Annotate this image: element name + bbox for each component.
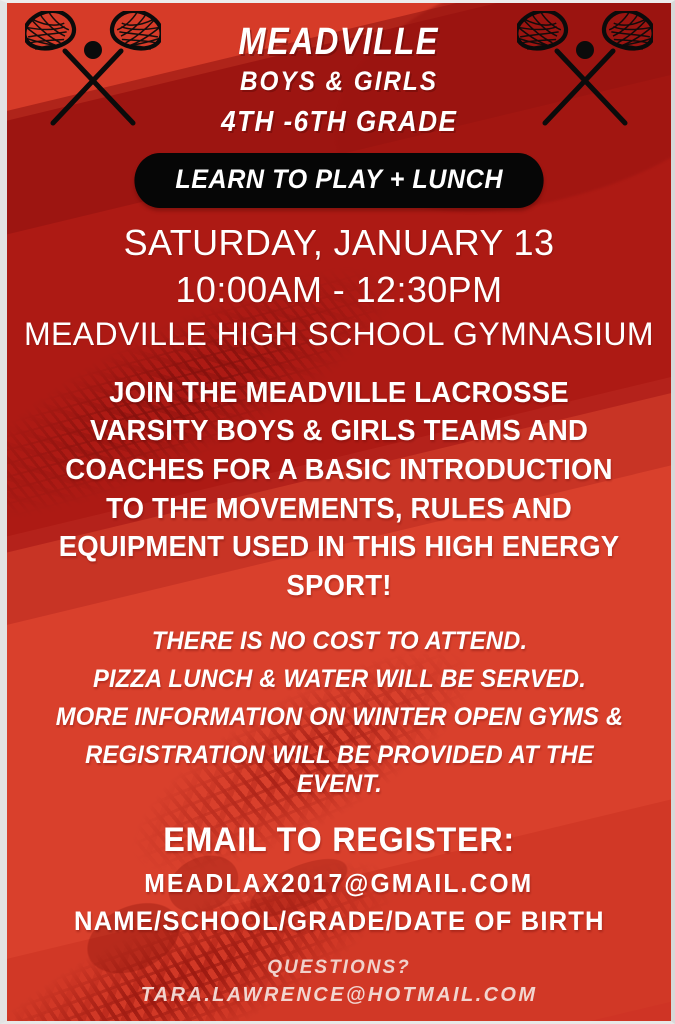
note-line: REGISTRATION WILL BE PROVIDED AT THE EVE…	[42, 741, 636, 799]
event-notes: THERE IS NO COST TO ATTEND. PIZZA LUNCH …	[27, 627, 652, 799]
subtitle-audience: BOYS & GIRLS	[240, 66, 438, 97]
questions-email[interactable]: TARA.LAWRENCE@HOTMAIL.COM	[141, 984, 538, 1007]
event-details: SATURDAY, JANUARY 13 10:00AM - 12:30PM M…	[24, 221, 654, 354]
poster-content: MEADVILLE BOYS & GIRLS 4TH -6TH GRADE LE…	[7, 3, 671, 1021]
register-required-fields: NAME/SCHOOL/GRADE/DATE OF BIRTH	[74, 906, 605, 937]
note-line: PIZZA LUNCH & WATER WILL BE SERVED.	[42, 665, 636, 694]
event-description: JOIN THE MEADVILLE LACROSSE VARSITY BOYS…	[49, 374, 629, 605]
note-line: THERE IS NO COST TO ATTEND.	[42, 627, 636, 656]
subtitle-grades: 4TH -6TH GRADE	[221, 106, 457, 139]
event-venue: MEADVILLE HIGH SCHOOL GYMNASIUM	[24, 315, 654, 354]
lacrosse-event-poster: MEADVILLE BOYS & GIRLS 4TH -6TH GRADE LE…	[0, 0, 675, 1024]
questions-block: QUESTIONS? TARA.LAWRENCE@HOTMAIL.COM	[141, 957, 538, 1007]
registration-block: EMAIL TO REGISTER: MEADLAX2017@GMAIL.COM…	[60, 821, 619, 937]
event-time: 10:00AM - 12:30PM	[24, 268, 654, 312]
register-heading: EMAIL TO REGISTER:	[163, 821, 515, 860]
questions-label: QUESTIONS?	[267, 957, 411, 979]
note-line: MORE INFORMATION ON WINTER OPEN GYMS &	[42, 703, 636, 732]
title-city: MEADVILLE	[239, 21, 439, 64]
register-email[interactable]: MEADLAX2017@GMAIL.COM	[144, 868, 533, 899]
poster-canvas: MEADVILLE BOYS & GIRLS 4TH -6TH GRADE LE…	[7, 3, 671, 1021]
banner-learn-to-play: LEARN TO PLAY + LUNCH	[134, 153, 544, 208]
event-date: SATURDAY, JANUARY 13	[24, 221, 654, 265]
